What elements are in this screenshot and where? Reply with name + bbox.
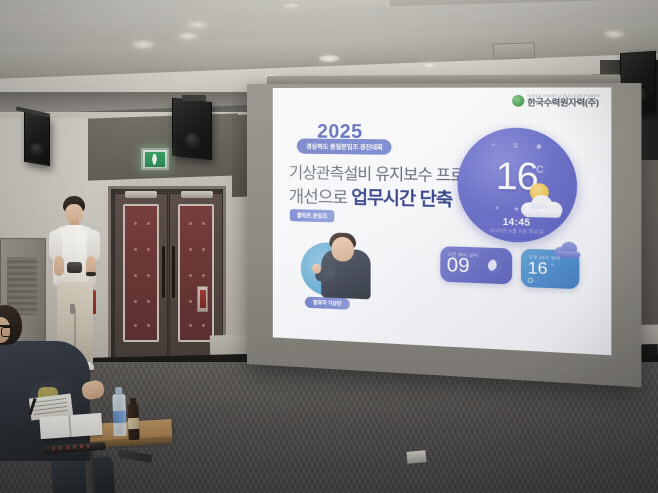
door-decorative-panel [123,204,159,342]
double-door-entrance[interactable] [108,186,226,366]
sun-behind-cloud-icon [521,183,566,220]
ceiling-downlight [186,20,209,29]
beverage-bottle-label [128,418,139,429]
door-decorative-panel [178,204,214,342]
screen-surface: KOREA HYDRO & NUCLEAR POWER 한국수력원자력(주) 2… [273,87,612,355]
ceiling-downlight [420,62,439,69]
ceiling-downlight [319,55,339,62]
speaker-cone-icon [30,142,44,158]
projection-screen: KOREA HYDRO & NUCLEAR POWER 한국수력원자력(주) 2… [247,83,641,387]
weather-temperature-unit: °C [532,164,543,175]
wind-icon: ≈ [491,142,495,149]
weather-card-night: 오전 09시 날씨 09 [440,246,512,284]
audience-hand [80,379,105,401]
water-drop-icon [528,278,534,284]
water-bottle-label [113,411,126,423]
speaker-cone-icon [185,132,201,150]
humidity-icon: ⇅ [513,143,519,150]
sunrise-icon: ✦ [495,206,500,212]
speaker-bracket [182,95,206,101]
illustration-hand [312,263,321,273]
emergency-exit-sign [141,148,169,170]
presentation-clicker[interactable] [67,262,82,273]
presenter-forearm-left [54,256,64,276]
organization-logo: KOREA HYDRO & NUCLEAR POWER 한국수력원자력(주) [512,95,600,108]
door-leaf-left[interactable] [114,193,168,359]
ceiling-speaker-left [24,112,50,167]
ceiling-air-vent [493,42,536,59]
ceiling-speaker-center [172,98,212,160]
slide-sub-badge: 클릭트 분임조 [290,209,335,222]
eyeglasses-icon [0,325,12,333]
weather-card-value: 16 [528,261,548,279]
ceiling-downlight [604,30,624,38]
open-notebook [39,413,102,439]
wristwatch [86,272,96,276]
presentation-slide: KOREA HYDRO & NUCLEAR POWER 한국수력원자력(주) 2… [273,87,612,355]
door-leaf-right[interactable] [169,193,223,359]
weather-card-unit: ° [551,264,553,270]
weather-main-widget: ≈ ⇅ ◉ 16 °C ✦ ◈ ☀ [458,127,578,244]
crescent-moon-icon [488,259,501,272]
slide-title-highlight: 업무시간 단축 [351,187,452,210]
weather-bottom-icon-row: ✦ ◈ ☀ [458,205,578,214]
door-handle-right[interactable] [172,246,175,298]
door-handle-left[interactable] [162,246,165,298]
running-man-exit-icon [145,152,165,167]
uv-icon: ☀ [533,207,539,214]
illustration-label: 발표자 기상반 [305,297,350,310]
slide-title-line2: 개선으로 업무시간 단축 [289,183,453,212]
weather-top-icon-row: ≈ ⇅ ◉ [458,142,578,151]
floor-socket-cover [407,450,427,464]
logo-main-text: 한국수력원자력(주) [527,99,600,108]
contest-badge: 경상북도 품질분임조 경진대회 [297,138,392,154]
conference-room-photo: KOREA HYDRO & NUCLEAR POWER 한국수력원자력(주) 2… [0,0,658,493]
door-closer [181,191,213,198]
ceiling-downlight [178,32,198,40]
weather-card-day: 오후 16시 날씨 16 ° [521,249,579,289]
fire-hose-cabinet [197,286,208,312]
slide-title-prefix: 개선으로 [289,188,348,208]
wall-upper-dark-band [88,113,238,180]
pressure-icon: ◈ [514,206,519,212]
location-pin-icon: ◉ [536,143,542,151]
weather-card-value: 09 [447,256,470,277]
illustration-head [331,237,354,262]
presenter-illustration: 발표자 기상반 [299,230,387,317]
ceiling-downlight [279,1,303,10]
door-closer [125,191,157,198]
ceiling-downlight [132,40,154,49]
kHnp-leaf-logo-icon [512,95,524,107]
